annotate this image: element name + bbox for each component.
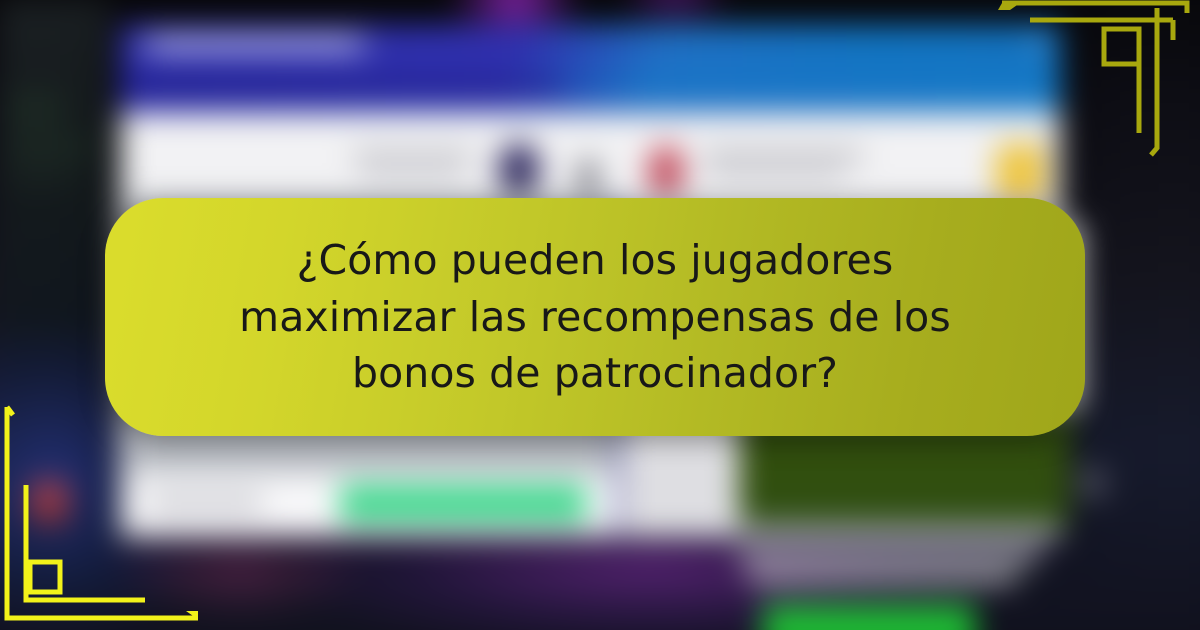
header-text-line: [708, 168, 843, 178]
sidebar-tile: [8, 136, 92, 158]
header-text-line: [353, 150, 473, 161]
left-cta-button: [340, 484, 586, 522]
sidebar-tile: [8, 92, 64, 126]
background-taskbar-icon: [30, 482, 68, 524]
right-text-line: [749, 572, 1017, 583]
right-cta-button: [763, 605, 975, 630]
right-text-line: [739, 550, 1039, 562]
badge-icon: [996, 144, 1044, 200]
promo-card: ¿Cómo pueden los jugadores maximizar las…: [0, 0, 1200, 630]
avatar: [498, 142, 540, 194]
footer-label: [150, 494, 262, 511]
sidebar-tile: [8, 166, 78, 184]
browser-tab-label: [154, 39, 354, 50]
avatar: [578, 158, 598, 196]
header-text-line: [703, 150, 863, 161]
avatar: [648, 144, 684, 196]
page-title: ¿Cómo pueden los jugadores maximizar las…: [200, 232, 990, 402]
window-close-icon: [1032, 37, 1042, 49]
browser-url-bar: [140, 77, 560, 96]
headline-banner: ¿Cómo pueden los jugadores maximizar las…: [105, 198, 1085, 436]
purple-glow-secondary: [620, 0, 730, 20]
background-corner-icon: [1078, 468, 1106, 498]
left-column-footer: [128, 472, 616, 534]
page-header-strip: [128, 120, 1052, 192]
window-shadow: [120, 536, 1060, 548]
header-text-line: [360, 168, 464, 178]
